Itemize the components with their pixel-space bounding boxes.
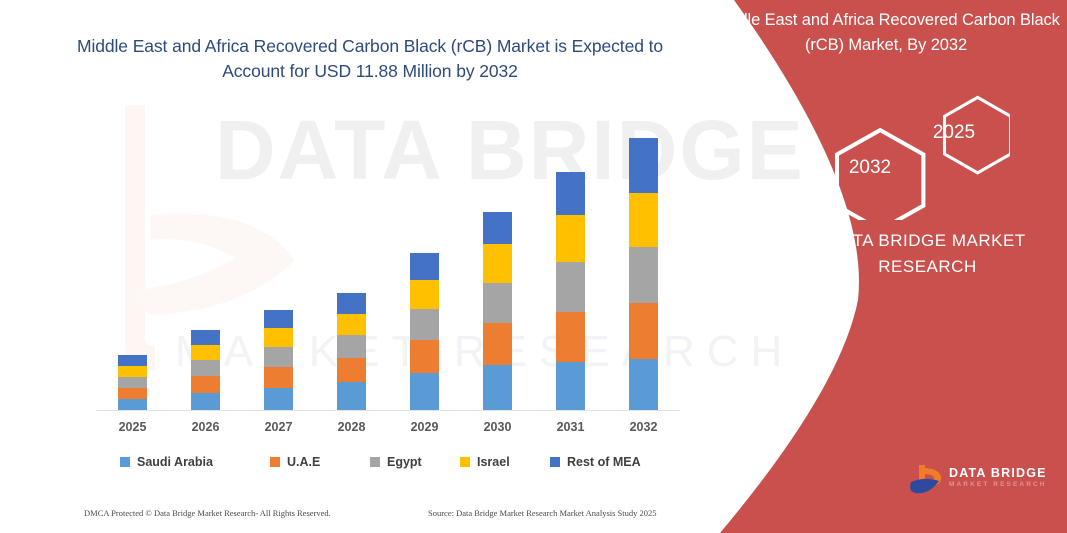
x-axis-tick-label: 2027 <box>242 420 315 434</box>
bar-segment <box>410 309 439 340</box>
bar-segment <box>191 393 220 410</box>
chart-panel: DATA BRIDGE MARKET RESEARCH Middle East … <box>0 0 760 533</box>
x-axis-tick-label: 2032 <box>607 420 680 434</box>
bar-segment <box>556 215 585 262</box>
bar-segment <box>118 399 147 410</box>
bar-segment <box>337 382 366 410</box>
bar-segment <box>483 323 512 365</box>
bar-segment <box>118 377 147 388</box>
infographic-root: DATA BRIDGE MARKET RESEARCH Middle East … <box>0 0 1067 533</box>
bar-segment <box>556 262 585 312</box>
bar-segment <box>191 345 220 360</box>
bar-group <box>169 100 242 410</box>
bar-segment <box>629 247 658 303</box>
bar-segment <box>629 303 658 359</box>
x-axis-line <box>96 410 680 411</box>
chart-legend: Saudi ArabiaU.A.EEgyptIsraelRest of MEA <box>120 455 660 475</box>
bar-group <box>461 100 534 410</box>
bar-segment <box>410 340 439 373</box>
legend-item-israel[interactable]: Israel <box>460 455 510 469</box>
bar-segment <box>118 366 147 377</box>
bar-group <box>607 100 680 410</box>
bar-group <box>96 100 169 410</box>
hexagon-label-2025: 2025 <box>902 122 1006 144</box>
hexagon-label-2032: 2032 <box>818 157 922 179</box>
bar-group <box>242 100 315 410</box>
bar-segment <box>556 362 585 410</box>
legend-swatch-icon <box>550 457 560 467</box>
legend-label: Israel <box>477 455 510 469</box>
bar-segment <box>264 367 293 388</box>
bar-segment <box>337 314 366 335</box>
bar-segment <box>629 138 658 193</box>
x-axis-tick-label: 2028 <box>315 420 388 434</box>
bar-segment <box>410 253 439 280</box>
stacked-bar <box>191 330 220 410</box>
legend-item-rest-of-mea[interactable]: Rest of MEA <box>550 455 641 469</box>
brand-name-line1: DATA BRIDGE MARKET <box>790 228 1065 254</box>
stacked-bar <box>337 293 366 410</box>
bar-segment <box>337 358 366 382</box>
bar-segment <box>483 365 512 410</box>
bar-segment <box>118 355 147 366</box>
bar-segment <box>483 244 512 283</box>
hexagon-group: 2032 2025 <box>810 95 1010 220</box>
legend-item-u-a-e[interactable]: U.A.E <box>270 455 320 469</box>
company-logo: DATA BRIDGE MARKET RESEARCH <box>905 462 1055 502</box>
logo-subtitle: MARKET RESEARCH <box>949 481 1047 489</box>
x-axis-tick-label: 2025 <box>96 420 169 434</box>
bar-segment <box>264 388 293 410</box>
footer-copyright: DMCA Protected © Data Bridge Market Rese… <box>84 508 331 518</box>
legend-label: Saudi Arabia <box>137 455 213 469</box>
bar-segment <box>191 330 220 345</box>
x-axis-tick-label: 2030 <box>461 420 534 434</box>
bar-segment <box>264 310 293 328</box>
footer: DMCA Protected © Data Bridge Market Rese… <box>0 508 760 528</box>
legend-label: Egypt <box>387 455 422 469</box>
stacked-bar-chart <box>96 100 680 410</box>
bar-segment <box>264 328 293 347</box>
bar-group <box>534 100 607 410</box>
stacked-bar <box>629 138 658 410</box>
legend-label: Rest of MEA <box>567 455 641 469</box>
brand-name: DATA BRIDGE MARKET RESEARCH <box>790 228 1065 280</box>
stacked-bar <box>410 253 439 410</box>
bar-segment <box>191 360 220 376</box>
bar-group <box>388 100 461 410</box>
bar-segment <box>410 373 439 410</box>
x-axis-labels: 20252026202720282029203020312032 <box>96 420 680 440</box>
x-axis-tick-label: 2026 <box>169 420 242 434</box>
legend-item-saudi-arabia[interactable]: Saudi Arabia <box>120 455 213 469</box>
stacked-bar <box>118 355 147 410</box>
bar-segment <box>337 335 366 358</box>
legend-swatch-icon <box>120 457 130 467</box>
legend-swatch-icon <box>270 457 280 467</box>
bar-segment <box>556 172 585 215</box>
bar-segment <box>337 293 366 314</box>
bar-segment <box>556 312 585 362</box>
bar-segment <box>483 212 512 244</box>
footer-source: Source: Data Bridge Market Research Mark… <box>428 508 657 518</box>
chart-title: Middle East and Africa Recovered Carbon … <box>60 34 680 84</box>
bar-segment <box>264 347 293 367</box>
legend-item-egypt[interactable]: Egypt <box>370 455 422 469</box>
stacked-bar <box>264 310 293 410</box>
bar-segment <box>629 359 658 410</box>
bar-group <box>315 100 388 410</box>
bar-segment <box>191 376 220 393</box>
brand-name-line2: RESEARCH <box>790 254 1065 280</box>
stacked-bar <box>483 212 512 410</box>
bar-segment <box>118 388 147 399</box>
x-axis-tick-label: 2031 <box>534 420 607 434</box>
data-bridge-b-icon <box>905 462 949 500</box>
legend-swatch-icon <box>460 457 470 467</box>
x-axis-tick-label: 2029 <box>388 420 461 434</box>
bar-segment <box>629 193 658 247</box>
logo-title: DATA BRIDGE <box>949 467 1047 480</box>
bar-segment <box>410 280 439 309</box>
legend-label: U.A.E <box>287 455 320 469</box>
bar-segment <box>483 283 512 323</box>
stacked-bar <box>556 172 585 410</box>
legend-swatch-icon <box>370 457 380 467</box>
brand-panel-title: Middle East and Africa Recovered Carbon … <box>710 8 1062 58</box>
